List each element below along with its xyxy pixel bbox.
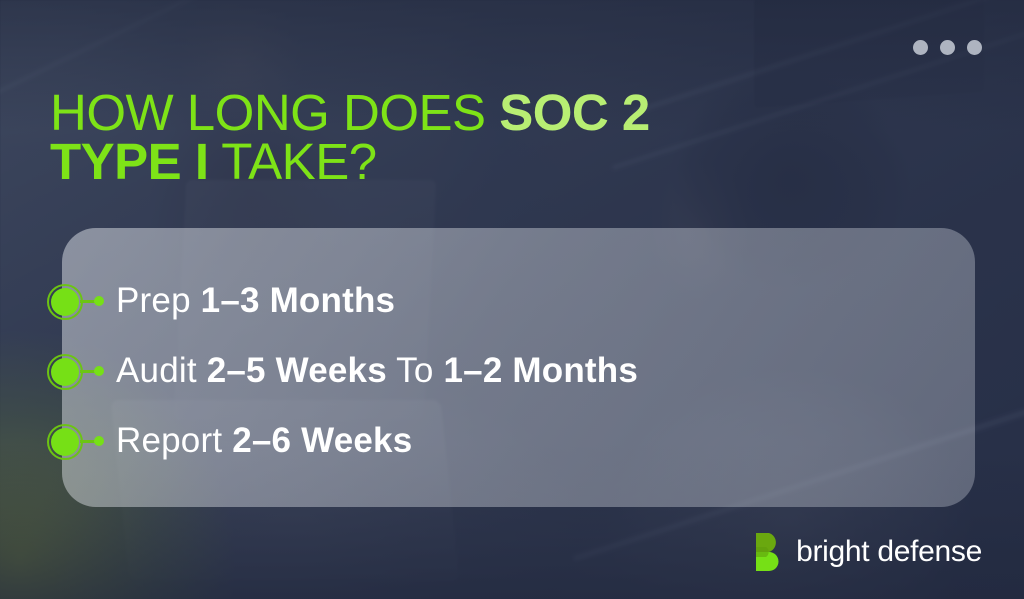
list-item-value: 2–5 Weeks [207,351,387,390]
window-dots [913,40,982,55]
list-item-label: Audit [116,351,207,390]
headline-regular-take: TAKE? [209,133,377,190]
headline-bold-soc2: SOC 2 [499,84,650,141]
bright-defense-b-mark-icon [756,533,783,571]
brand-logo-text: bright defense [796,535,982,569]
marker-core [51,358,79,386]
list-item-label: Report [116,421,232,460]
green-circle-marker-icon [46,419,116,463]
list-item-label: Prep [116,281,201,320]
headline-bold-type1: TYPE I [50,133,209,190]
list-item: Report 2–6 Weeks [46,406,976,476]
list-item-value: 2–6 Weeks [232,421,412,460]
infographic-canvas: HOW LONG DOES SOC 2 TYPE I TAKE? Prep 1–… [0,0,1024,599]
marker-tip-dot [94,436,104,446]
list-item-value: 1–3 Months [201,281,396,320]
window-dot-icon [940,40,955,55]
green-circle-marker-icon [46,349,116,393]
brand-logo: bright defense [756,533,982,571]
list-item-text: Prep 1–3 Months [116,281,395,321]
marker-tip-dot [94,366,104,376]
list-item-value-2: 1–2 Months [443,351,638,390]
list-item: Audit 2–5 Weeks To 1–2 Months [46,336,976,406]
green-circle-marker-icon [46,279,116,323]
list-item-suffix: To [387,351,444,390]
marker-core [51,428,79,456]
list-item: Prep 1–3 Months [46,266,976,336]
headline-line-1: HOW LONG DOES SOC 2 [50,88,710,137]
headline-regular-text: HOW LONG DOES [50,84,499,141]
page-title: HOW LONG DOES SOC 2 TYPE I TAKE? [50,88,710,187]
list-item-text: Report 2–6 Weeks [116,421,412,461]
window-dot-icon [913,40,928,55]
marker-tip-dot [94,296,104,306]
marker-core [51,288,79,316]
window-dot-icon [967,40,982,55]
timeline-list: Prep 1–3 Months Audit 2–5 Weeks To 1–2 M… [46,266,976,476]
headline-line-2: TYPE I TAKE? [50,137,710,186]
list-item-text: Audit 2–5 Weeks To 1–2 Months [116,351,638,391]
